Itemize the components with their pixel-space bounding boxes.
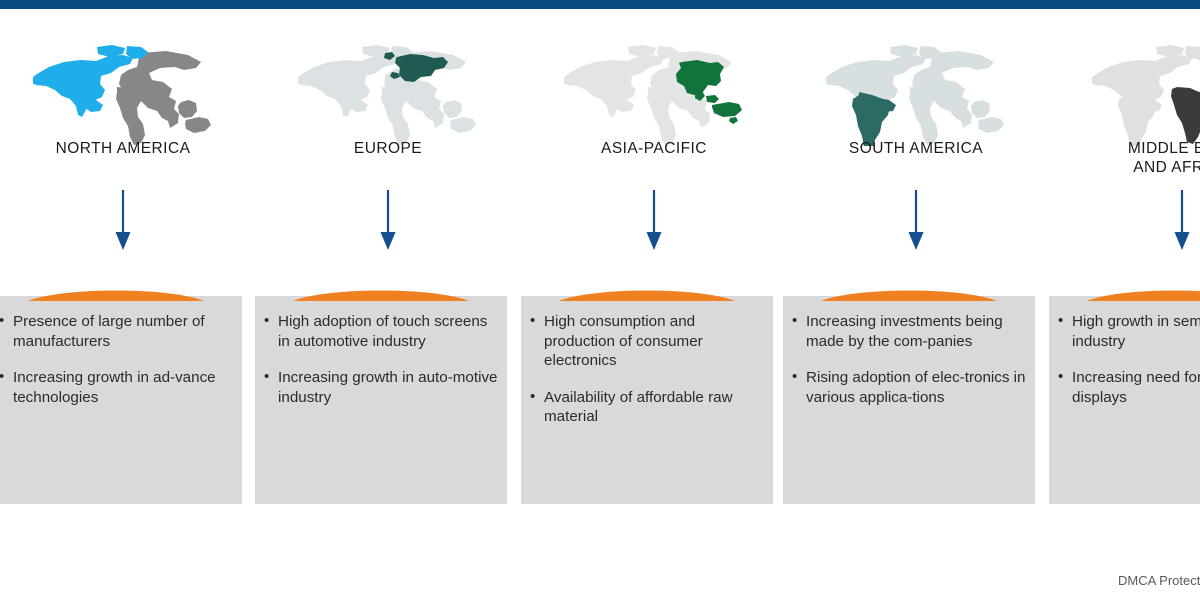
bullet-list: Presence of large number of manufacturer… [0, 312, 234, 424]
bullet-list: High consumption and production of consu… [529, 312, 765, 444]
down-arrow-icon [1049, 190, 1200, 252]
list-item: High consumption and production of consu… [529, 312, 765, 371]
down-arrow-icon [0, 190, 256, 252]
slide-canvas: NORTH AMERICA Presence of large number o… [0, 9, 1200, 600]
dmca-watermark: DMCA Protected [1118, 573, 1200, 588]
region-label: SOUTH AMERICA [783, 139, 1049, 158]
region-label: ASIA-PACIFIC [521, 139, 787, 158]
orange-arc-accent-icon [559, 287, 735, 301]
down-arrow-icon [783, 190, 1049, 252]
bullet-list: Increasing investments being made by the… [791, 312, 1027, 424]
world-map-europe-highlighted [255, 39, 521, 151]
list-item: Increasing investments being made by the… [791, 312, 1027, 351]
bullet-list: High growth in semicon-ductor industry I… [1057, 312, 1200, 424]
world-map-middle-east-africa-highlighted [1049, 39, 1200, 151]
region-label: NORTH AMERICA [0, 139, 256, 158]
region-column-south-america: SOUTH AMERICA Increasing investments bei… [783, 9, 1049, 549]
bullet-list: High adoption of touch screens in automo… [263, 312, 499, 424]
insight-card: High adoption of touch screens in automo… [255, 296, 507, 504]
orange-arc-accent-icon [293, 287, 469, 301]
insight-card: High growth in semicon-ductor industry I… [1049, 296, 1200, 504]
list-item: High growth in semicon-ductor industry [1057, 312, 1200, 351]
down-arrow-icon [521, 190, 787, 252]
list-item: Presence of large number of manufacturer… [0, 312, 234, 351]
region-column-europe: EUROPE High adoption of touch screens in… [255, 9, 521, 549]
insight-card: Presence of large number of manufacturer… [0, 296, 242, 504]
orange-arc-accent-icon [28, 287, 204, 301]
list-item: Availability of affordable raw material [529, 388, 765, 427]
top-navy-band [0, 0, 1200, 9]
orange-arc-accent-icon [1087, 287, 1200, 301]
list-item: High adoption of touch screens in automo… [263, 312, 499, 351]
list-item: Rising adoption of elec-tronics in vario… [791, 368, 1027, 407]
region-column-north-america: NORTH AMERICA Presence of large number o… [0, 9, 256, 549]
insight-card: Increasing investments being made by the… [783, 296, 1035, 504]
region-column-middle-east-and-africa: MIDDLE EAST AND AFRICA High growth in se… [1049, 9, 1200, 549]
list-item: Increasing growth in auto-motive industr… [263, 368, 499, 407]
world-map-south-america-highlighted [783, 39, 1049, 151]
list-item: Increasing need for oxide based displays [1057, 368, 1200, 407]
region-column-asia-pacific: ASIA-PACIFIC High consumption and produc… [521, 9, 787, 549]
region-label: EUROPE [255, 139, 521, 158]
region-label: MIDDLE EAST AND AFRICA [1049, 139, 1200, 177]
orange-arc-accent-icon [821, 287, 997, 301]
list-item: Increasing growth in ad-vance technologi… [0, 368, 234, 407]
world-map-asia-pacific-highlighted [521, 39, 787, 151]
down-arrow-icon [255, 190, 521, 252]
insight-card: High consumption and production of consu… [521, 296, 773, 504]
world-map-north-america-highlighted [0, 39, 256, 151]
